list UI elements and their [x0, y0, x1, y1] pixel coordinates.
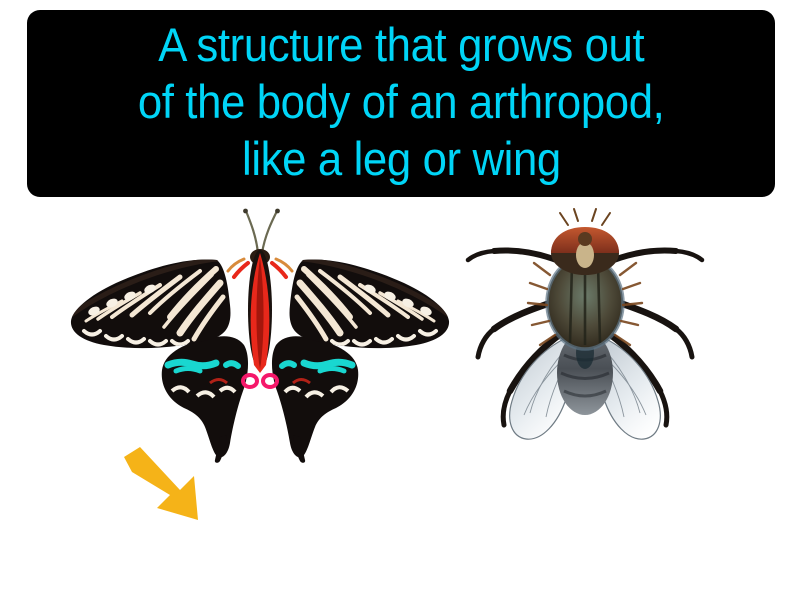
definition-line-2: of the body of an arthropod,	[138, 73, 665, 130]
housefly-head	[551, 209, 619, 275]
butterfly-forewing-left	[71, 259, 231, 348]
butterfly-image: swallowtail butterfly with wings spread	[60, 205, 460, 470]
butterfly-forewing-right	[290, 259, 450, 348]
butterfly-magenta-spots	[243, 375, 277, 387]
butterfly-hindwing-left	[162, 336, 248, 457]
butterfly-antennae	[246, 211, 277, 253]
butterfly-illustration	[60, 205, 460, 470]
figure-row: swallowtail butterfly with wings spread	[0, 205, 800, 475]
butterfly-hindwing-right	[272, 336, 358, 457]
definition-line-1: A structure that grows out	[158, 16, 644, 73]
definition-banner: A structure that grows out of the body o…	[27, 10, 775, 197]
definition-line-3: like a leg or wing	[242, 130, 561, 187]
housefly-image: housefly viewed from above	[460, 205, 710, 455]
housefly-illustration	[460, 205, 710, 455]
definition-card: A structure that grows out of the body o…	[0, 0, 800, 600]
